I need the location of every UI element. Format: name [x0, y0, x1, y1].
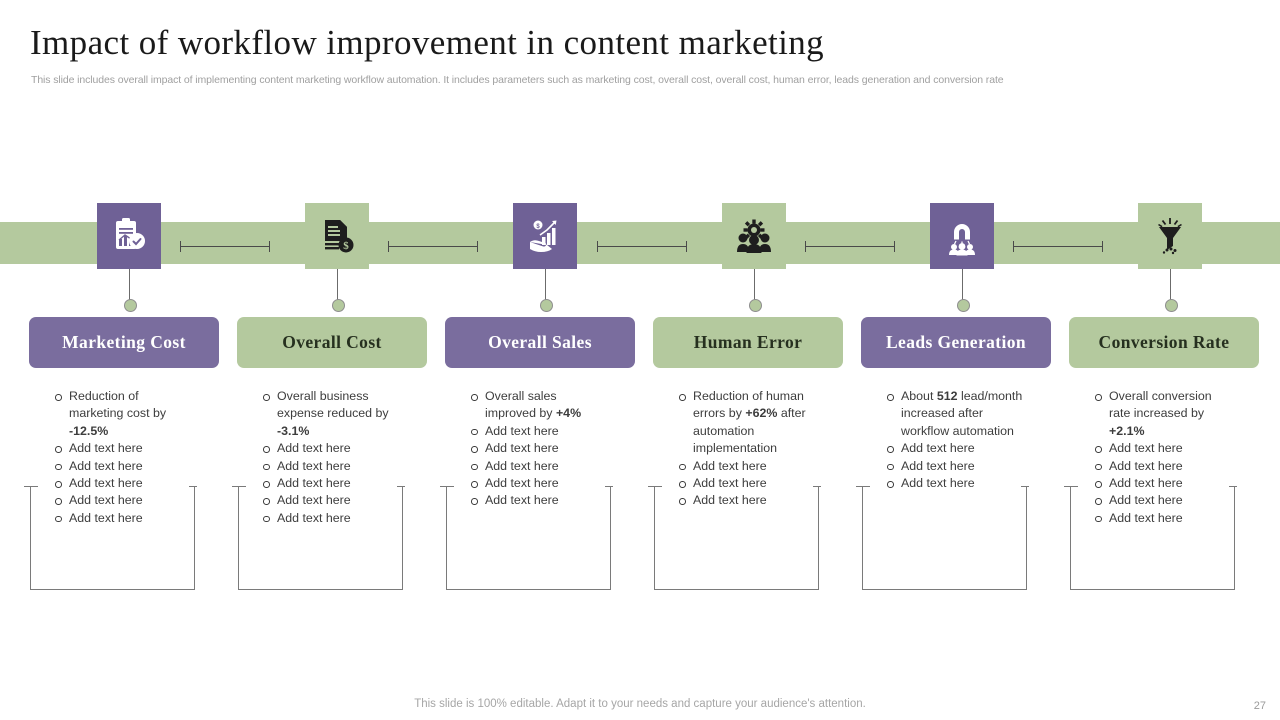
list-item[interactable]: Add text here: [255, 458, 403, 475]
bullet-metric-value: -12.5%: [69, 424, 108, 438]
list-item[interactable]: Add text here: [1087, 440, 1235, 457]
bullet-text-lead: Overall sales improved by: [485, 389, 557, 420]
list-item[interactable]: About 512 lead/month increased after wor…: [879, 388, 1027, 440]
bullet-text: Add text here: [901, 459, 975, 473]
bullet-text-lead: Overall business expense reduced by: [277, 389, 389, 420]
category-pill-human-error[interactable]: Human Error: [653, 317, 843, 368]
icon-tile-overall-sales[interactable]: $: [513, 203, 577, 269]
bullet-text: Add text here: [277, 493, 351, 507]
bullet-text: Add text here: [69, 459, 143, 473]
list-item[interactable]: Add text here: [671, 475, 819, 492]
connector-segment-1: [180, 241, 270, 252]
connector-segment-3: [597, 241, 687, 252]
list-item[interactable]: Add text here: [255, 440, 403, 457]
list-item[interactable]: Add text here: [255, 475, 403, 492]
page-number: 27: [1254, 700, 1266, 712]
bullet-text: Add text here: [901, 441, 975, 455]
bullet-list-conversion-rate: Overall conversion rate increased by +2.…: [1087, 388, 1235, 527]
bullet-text: Add text here: [69, 493, 143, 507]
bullet-text-lead: Reduction of marketing cost by: [69, 389, 166, 420]
bullet-metric-value: +2.1%: [1109, 424, 1144, 438]
connector-segment-5: [1013, 241, 1103, 252]
bullet-text: Add text here: [69, 511, 143, 525]
bullet-text: Add text here: [1109, 476, 1183, 490]
list-item[interactable]: Add text here: [1087, 475, 1235, 492]
list-item[interactable]: Add text here: [1087, 510, 1235, 527]
footer-note: This slide is 100% editable. Adapt it to…: [0, 698, 1280, 710]
bullet-text: Add text here: [901, 476, 975, 490]
category-pill-overall-sales[interactable]: Overall Sales: [445, 317, 635, 368]
category-label-human-error: Human Error: [694, 332, 803, 353]
bullet-text: Add text here: [69, 441, 143, 455]
bullet-text: Add text here: [693, 476, 767, 490]
category-pill-conversion-rate[interactable]: Conversion Rate: [1069, 317, 1259, 368]
icon-tile-conversion-rate[interactable]: [1138, 203, 1202, 269]
list-item[interactable]: Add text here: [463, 423, 611, 440]
people-gears-icon: [734, 216, 774, 256]
bullet-text: Add text here: [485, 493, 559, 507]
list-item[interactable]: Overall business expense reduced by -3.1…: [255, 388, 403, 440]
bullet-metric-value: +62%: [745, 406, 777, 420]
list-item[interactable]: Add text here: [879, 475, 1027, 492]
bullet-metric-value: -3.1%: [277, 424, 309, 438]
bullet-text: Add text here: [485, 441, 559, 455]
icon-tile-overall-cost[interactable]: $: [305, 203, 369, 269]
category-pill-leads-generation[interactable]: Leads Generation: [861, 317, 1051, 368]
list-item[interactable]: Add text here: [879, 440, 1027, 457]
list-item[interactable]: Add text here: [463, 475, 611, 492]
bullet-text: Add text here: [277, 459, 351, 473]
stem-dot-marketing-cost: [124, 299, 137, 312]
stem-dot-leads-generation: [957, 299, 970, 312]
bullet-text: Add text here: [693, 459, 767, 473]
bracket-leads-generation: [862, 487, 1027, 590]
stem-human-error: [754, 269, 755, 300]
bullet-text: Add text here: [69, 476, 143, 490]
stem-overall-cost: [337, 269, 338, 300]
connector-segment-4: [805, 241, 895, 252]
bullet-text: Add text here: [1109, 459, 1183, 473]
list-item[interactable]: Add text here: [463, 492, 611, 509]
page-title: Impact of workflow improvement in conten…: [30, 22, 824, 64]
bullet-list-overall-sales: Overall sales improved by +4%Add text he…: [463, 388, 611, 510]
bullet-text-lead: Overall conversion rate increased by: [1109, 389, 1212, 420]
list-item[interactable]: Reduction of marketing cost by -12.5%: [47, 388, 195, 440]
icon-tile-marketing-cost[interactable]: [97, 203, 161, 269]
list-item[interactable]: Add text here: [1087, 458, 1235, 475]
page-subtitle: This slide includes overall impact of im…: [31, 74, 1211, 87]
bullet-text: Add text here: [277, 476, 351, 490]
bullet-text: Add text here: [1109, 511, 1183, 525]
stem-marketing-cost: [129, 269, 130, 300]
list-item[interactable]: Add text here: [671, 492, 819, 509]
funnel-icon: [1150, 216, 1190, 256]
list-item[interactable]: Add text here: [463, 440, 611, 457]
magnet-leads-icon: [942, 216, 982, 256]
bullet-text: Add text here: [1109, 441, 1183, 455]
list-item[interactable]: Add text here: [671, 458, 819, 475]
list-item[interactable]: Add text here: [47, 440, 195, 457]
list-item[interactable]: Add text here: [47, 510, 195, 527]
connector-segment-2: [388, 241, 478, 252]
bullet-text: Add text here: [485, 476, 559, 490]
bullet-list-overall-cost: Overall business expense reduced by -3.1…: [255, 388, 403, 527]
bullet-text: Add text here: [693, 493, 767, 507]
category-pill-marketing-cost[interactable]: Marketing Cost: [29, 317, 219, 368]
bullet-metric-value: 512: [937, 389, 958, 403]
list-item[interactable]: Overall sales improved by +4%: [463, 388, 611, 423]
hand-growth-chart-icon: $: [525, 216, 565, 256]
list-item[interactable]: Add text here: [1087, 492, 1235, 509]
list-item[interactable]: Add text here: [47, 475, 195, 492]
stem-dot-overall-cost: [332, 299, 345, 312]
category-pill-overall-cost[interactable]: Overall Cost: [237, 317, 427, 368]
stem-conversion-rate: [1170, 269, 1171, 300]
category-label-overall-sales: Overall Sales: [488, 332, 592, 353]
bullet-metric-value: +4%: [556, 406, 581, 420]
bullet-text: Add text here: [485, 459, 559, 473]
list-item[interactable]: Add text here: [255, 492, 403, 509]
bullet-text: Add text here: [277, 511, 351, 525]
bullet-text: Add text here: [1109, 493, 1183, 507]
bullet-list-human-error: Reduction of human errors by +62% after …: [671, 388, 819, 510]
bullet-list-leads-generation: About 512 lead/month increased after wor…: [879, 388, 1027, 492]
category-label-leads-generation: Leads Generation: [886, 332, 1026, 353]
document-money-icon: $: [317, 216, 357, 256]
bullet-text: Add text here: [277, 441, 351, 455]
svg-text:$: $: [343, 240, 349, 252]
list-item[interactable]: Add text here: [47, 458, 195, 475]
icon-tile-leads-generation[interactable]: [930, 203, 994, 269]
stem-overall-sales: [545, 269, 546, 300]
bullet-text-lead: About: [901, 389, 937, 403]
category-label-conversion-rate: Conversion Rate: [1099, 332, 1230, 353]
stem-dot-overall-sales: [540, 299, 553, 312]
stem-dot-human-error: [749, 299, 762, 312]
icon-tile-human-error[interactable]: [722, 203, 786, 269]
clipboard-chart-icon: [109, 216, 149, 256]
category-label-marketing-cost: Marketing Cost: [62, 332, 186, 353]
stem-dot-conversion-rate: [1165, 299, 1178, 312]
bullet-text: Add text here: [485, 424, 559, 438]
list-item[interactable]: Add text here: [47, 492, 195, 509]
list-item[interactable]: Add text here: [463, 458, 611, 475]
list-item[interactable]: Add text here: [879, 458, 1027, 475]
list-item[interactable]: Add text here: [255, 510, 403, 527]
stem-leads-generation: [962, 269, 963, 300]
category-label-overall-cost: Overall Cost: [282, 332, 382, 353]
list-item[interactable]: Reduction of human errors by +62% after …: [671, 388, 819, 458]
bullet-list-marketing-cost: Reduction of marketing cost by -12.5%Add…: [47, 388, 195, 527]
list-item[interactable]: Overall conversion rate increased by +2.…: [1087, 388, 1235, 440]
